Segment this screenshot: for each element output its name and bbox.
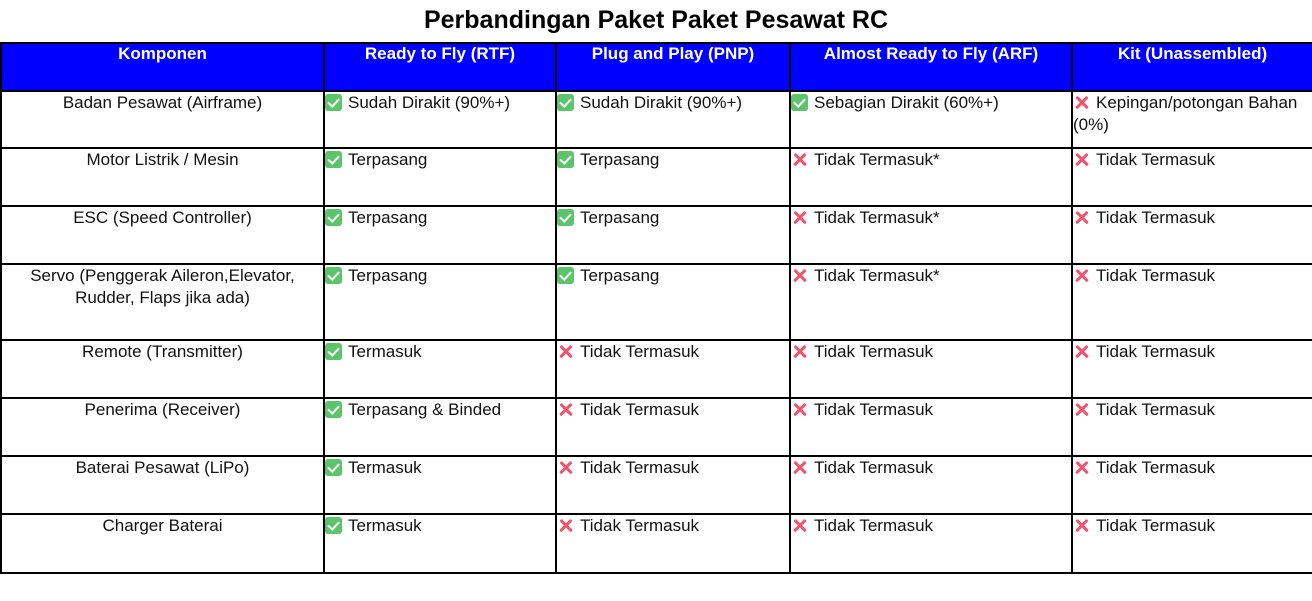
- check-icon: [325, 209, 342, 226]
- column-header-komponen: Komponen: [1, 43, 324, 91]
- cell-arf: Sebagian Dirakit (60%+): [790, 91, 1072, 148]
- cell-rtf: Termasuk: [324, 456, 556, 514]
- cell-arf: Tidak Termasuk*: [790, 148, 1072, 206]
- cell-text: Tidak Termasuk: [814, 458, 933, 477]
- cell-text: Tidak Termasuk: [1096, 458, 1215, 477]
- table-row: Servo (Penggerak Aileron,Elevator, Rudde…: [1, 264, 1312, 340]
- cell-text: Terpasang: [348, 208, 427, 227]
- cell-kit: Tidak Termasuk: [1072, 514, 1312, 573]
- check-icon: [557, 94, 574, 111]
- cell-text: Tidak Termasuk: [580, 516, 699, 535]
- cell-arf: Tidak Termasuk*: [790, 264, 1072, 340]
- cell-pnp: Tidak Termasuk: [556, 456, 790, 514]
- table-row: Remote (Transmitter) Termasuk Tidak Term…: [1, 340, 1312, 398]
- cross-icon: [1073, 209, 1090, 226]
- cell-component: Penerima (Receiver): [1, 398, 324, 456]
- cell-rtf: Sudah Dirakit (90%+): [324, 91, 556, 148]
- cell-text: Tidak Termasuk: [580, 458, 699, 477]
- check-icon: [325, 94, 342, 111]
- cell-text: Terpasang: [348, 150, 427, 169]
- column-header-kit: Kit (Unassembled): [1072, 43, 1312, 91]
- check-icon: [325, 459, 342, 476]
- cell-rtf: Terpasang: [324, 148, 556, 206]
- column-header-pnp: Plug and Play (PNP): [556, 43, 790, 91]
- cross-icon: [1073, 343, 1090, 360]
- cell-text: Terpasang: [580, 208, 659, 227]
- table-row: Motor Listrik / Mesin Terpasang Terpasan…: [1, 148, 1312, 206]
- cell-kit: Tidak Termasuk: [1072, 206, 1312, 264]
- column-header-rtf: Ready to Fly (RTF): [324, 43, 556, 91]
- cell-arf: Tidak Termasuk: [790, 514, 1072, 573]
- cross-icon: [557, 343, 574, 360]
- cell-kit: Tidak Termasuk: [1072, 264, 1312, 340]
- cell-kit: Tidak Termasuk: [1072, 148, 1312, 206]
- cell-text: Termasuk: [348, 342, 422, 361]
- table-header: Komponen Ready to Fly (RTF) Plug and Pla…: [1, 43, 1312, 91]
- cell-rtf: Termasuk: [324, 514, 556, 573]
- cross-icon: [791, 343, 808, 360]
- cell-pnp: Tidak Termasuk: [556, 514, 790, 573]
- cell-kit: Tidak Termasuk: [1072, 456, 1312, 514]
- cell-component: Badan Pesawat (Airframe): [1, 91, 324, 148]
- check-icon: [791, 94, 808, 111]
- cross-icon: [791, 517, 808, 534]
- header-row: Komponen Ready to Fly (RTF) Plug and Pla…: [1, 43, 1312, 91]
- table-row: Baterai Pesawat (LiPo) Termasuk Tidak Te…: [1, 456, 1312, 514]
- cell-text: Terpasang & Binded: [348, 400, 501, 419]
- cross-icon: [1073, 94, 1090, 111]
- cell-text: Kepingan/potongan Bahan (0%): [1073, 93, 1297, 134]
- check-icon: [325, 151, 342, 168]
- cross-icon: [791, 151, 808, 168]
- cell-component: Remote (Transmitter): [1, 340, 324, 398]
- cell-component: Charger Baterai: [1, 514, 324, 573]
- cross-icon: [791, 401, 808, 418]
- cell-pnp: Sudah Dirakit (90%+): [556, 91, 790, 148]
- cell-text: Tidak Termasuk: [814, 516, 933, 535]
- cell-text: Terpasang: [580, 150, 659, 169]
- cell-pnp: Terpasang: [556, 206, 790, 264]
- table-row: Badan Pesawat (Airframe) Sudah Dirakit (…: [1, 91, 1312, 148]
- cell-pnp: Tidak Termasuk: [556, 398, 790, 456]
- cell-kit: Tidak Termasuk: [1072, 340, 1312, 398]
- cell-pnp: Tidak Termasuk: [556, 340, 790, 398]
- check-icon: [557, 151, 574, 168]
- page-title: Perbandingan Paket Paket Pesawat RC: [0, 0, 1312, 42]
- cell-text: Tidak Termasuk: [814, 400, 933, 419]
- cell-text: Tidak Termasuk: [1096, 400, 1215, 419]
- cell-rtf: Terpasang & Binded: [324, 398, 556, 456]
- cell-pnp: Terpasang: [556, 148, 790, 206]
- cell-rtf: Terpasang: [324, 264, 556, 340]
- table-row: Charger Baterai Termasuk Tidak Termasuk …: [1, 514, 1312, 573]
- check-icon: [325, 343, 342, 360]
- cell-text: Tidak Termasuk: [1096, 150, 1215, 169]
- cross-icon: [791, 459, 808, 476]
- cross-icon: [791, 267, 808, 284]
- cross-icon: [1073, 459, 1090, 476]
- cell-component: Baterai Pesawat (LiPo): [1, 456, 324, 514]
- check-icon: [325, 401, 342, 418]
- check-icon: [557, 267, 574, 284]
- column-header-arf: Almost Ready to Fly (ARF): [790, 43, 1072, 91]
- cross-icon: [557, 459, 574, 476]
- cell-pnp: Terpasang: [556, 264, 790, 340]
- cell-text: Tidak Termasuk*: [814, 150, 940, 169]
- cross-icon: [1073, 151, 1090, 168]
- cell-text: Tidak Termasuk: [814, 342, 933, 361]
- table-row: ESC (Speed Controller) Terpasang Terpasa…: [1, 206, 1312, 264]
- check-icon: [325, 517, 342, 534]
- cell-text: Tidak Termasuk*: [814, 208, 940, 227]
- cell-text: Tidak Termasuk: [1096, 266, 1215, 285]
- cell-arf: Tidak Termasuk: [790, 340, 1072, 398]
- cell-kit: Tidak Termasuk: [1072, 398, 1312, 456]
- cross-icon: [557, 517, 574, 534]
- cell-text: Sudah Dirakit (90%+): [580, 93, 742, 112]
- table-body: Badan Pesawat (Airframe) Sudah Dirakit (…: [1, 91, 1312, 573]
- cell-text: Terpasang: [348, 266, 427, 285]
- cell-kit: Kepingan/potongan Bahan (0%): [1072, 91, 1312, 148]
- cell-arf: Tidak Termasuk: [790, 398, 1072, 456]
- cell-text: Terpasang: [580, 266, 659, 285]
- cell-component: Motor Listrik / Mesin: [1, 148, 324, 206]
- check-icon: [557, 209, 574, 226]
- cell-component: ESC (Speed Controller): [1, 206, 324, 264]
- cell-text: Termasuk: [348, 516, 422, 535]
- cross-icon: [557, 401, 574, 418]
- cell-text: Tidak Termasuk: [580, 400, 699, 419]
- cell-text: Termasuk: [348, 458, 422, 477]
- cross-icon: [791, 209, 808, 226]
- cell-text: Tidak Termasuk: [580, 342, 699, 361]
- cell-text: Sebagian Dirakit (60%+): [814, 93, 999, 112]
- table-row: Penerima (Receiver) Terpasang & Binded T…: [1, 398, 1312, 456]
- cell-text: Sudah Dirakit (90%+): [348, 93, 510, 112]
- cell-text: Tidak Termasuk: [1096, 342, 1215, 361]
- cross-icon: [1073, 267, 1090, 284]
- cell-arf: Tidak Termasuk*: [790, 206, 1072, 264]
- cell-rtf: Terpasang: [324, 206, 556, 264]
- cell-rtf: Termasuk: [324, 340, 556, 398]
- cell-text: Tidak Termasuk: [1096, 208, 1215, 227]
- cross-icon: [1073, 517, 1090, 534]
- check-icon: [325, 267, 342, 284]
- cell-text: Tidak Termasuk*: [814, 266, 940, 285]
- cell-component: Servo (Penggerak Aileron,Elevator, Rudde…: [1, 264, 324, 340]
- comparison-table: Komponen Ready to Fly (RTF) Plug and Pla…: [0, 42, 1312, 574]
- cell-text: Tidak Termasuk: [1096, 516, 1215, 535]
- cross-icon: [1073, 401, 1090, 418]
- cell-arf: Tidak Termasuk: [790, 456, 1072, 514]
